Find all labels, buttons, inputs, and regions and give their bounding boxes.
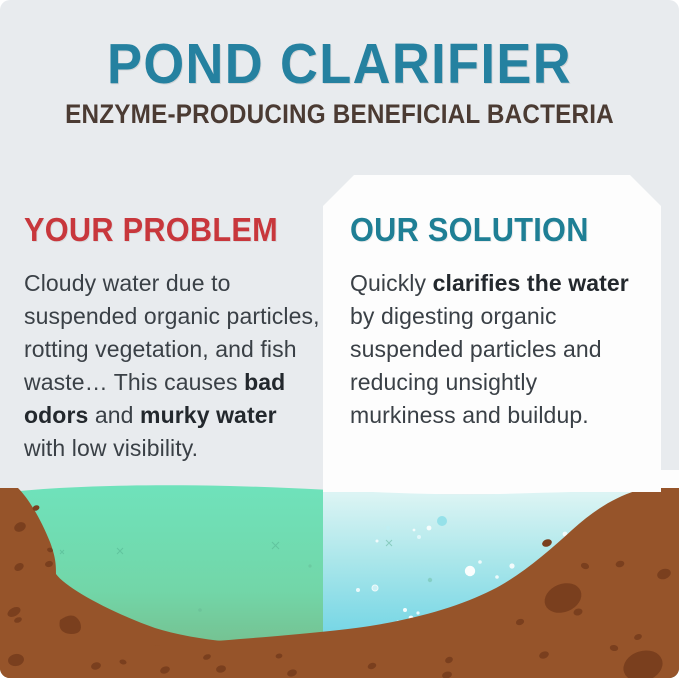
page-title: POND CLARIFIER (27, 0, 652, 94)
infographic-panel: POND CLARIFIER ENZYME-PRODUCING BENEFICI… (0, 0, 679, 678)
problem-body-bold-murky: murky water (140, 402, 277, 428)
problem-heading: YOUR PROBLEM (24, 212, 303, 248)
solution-column: OUR SOLUTION Quickly clarifies the water… (350, 212, 642, 432)
problem-body-tail: with low visibility. (24, 435, 198, 461)
pond-illustration (0, 470, 679, 678)
header: POND CLARIFIER ENZYME-PRODUCING BENEFICI… (0, 0, 679, 160)
solution-body-tail: by digesting organic suspended particles… (350, 303, 602, 428)
page-subtitle: ENZYME-PRODUCING BENEFICIAL BACTERIA (34, 94, 645, 129)
problem-column: YOUR PROBLEM Cloudy water due to suspend… (24, 212, 324, 465)
solution-card-foot (323, 470, 661, 492)
problem-body: Cloudy water due to suspended organic pa… (24, 248, 324, 465)
solution-body-lead: Quickly (350, 270, 433, 296)
solution-heading: OUR SOLUTION (350, 212, 622, 248)
solution-body-bold-clarifies: clarifies the water (433, 270, 629, 296)
solution-body: Quickly clarifies the water by digesting… (350, 248, 642, 432)
problem-body-mid: and (88, 402, 140, 428)
